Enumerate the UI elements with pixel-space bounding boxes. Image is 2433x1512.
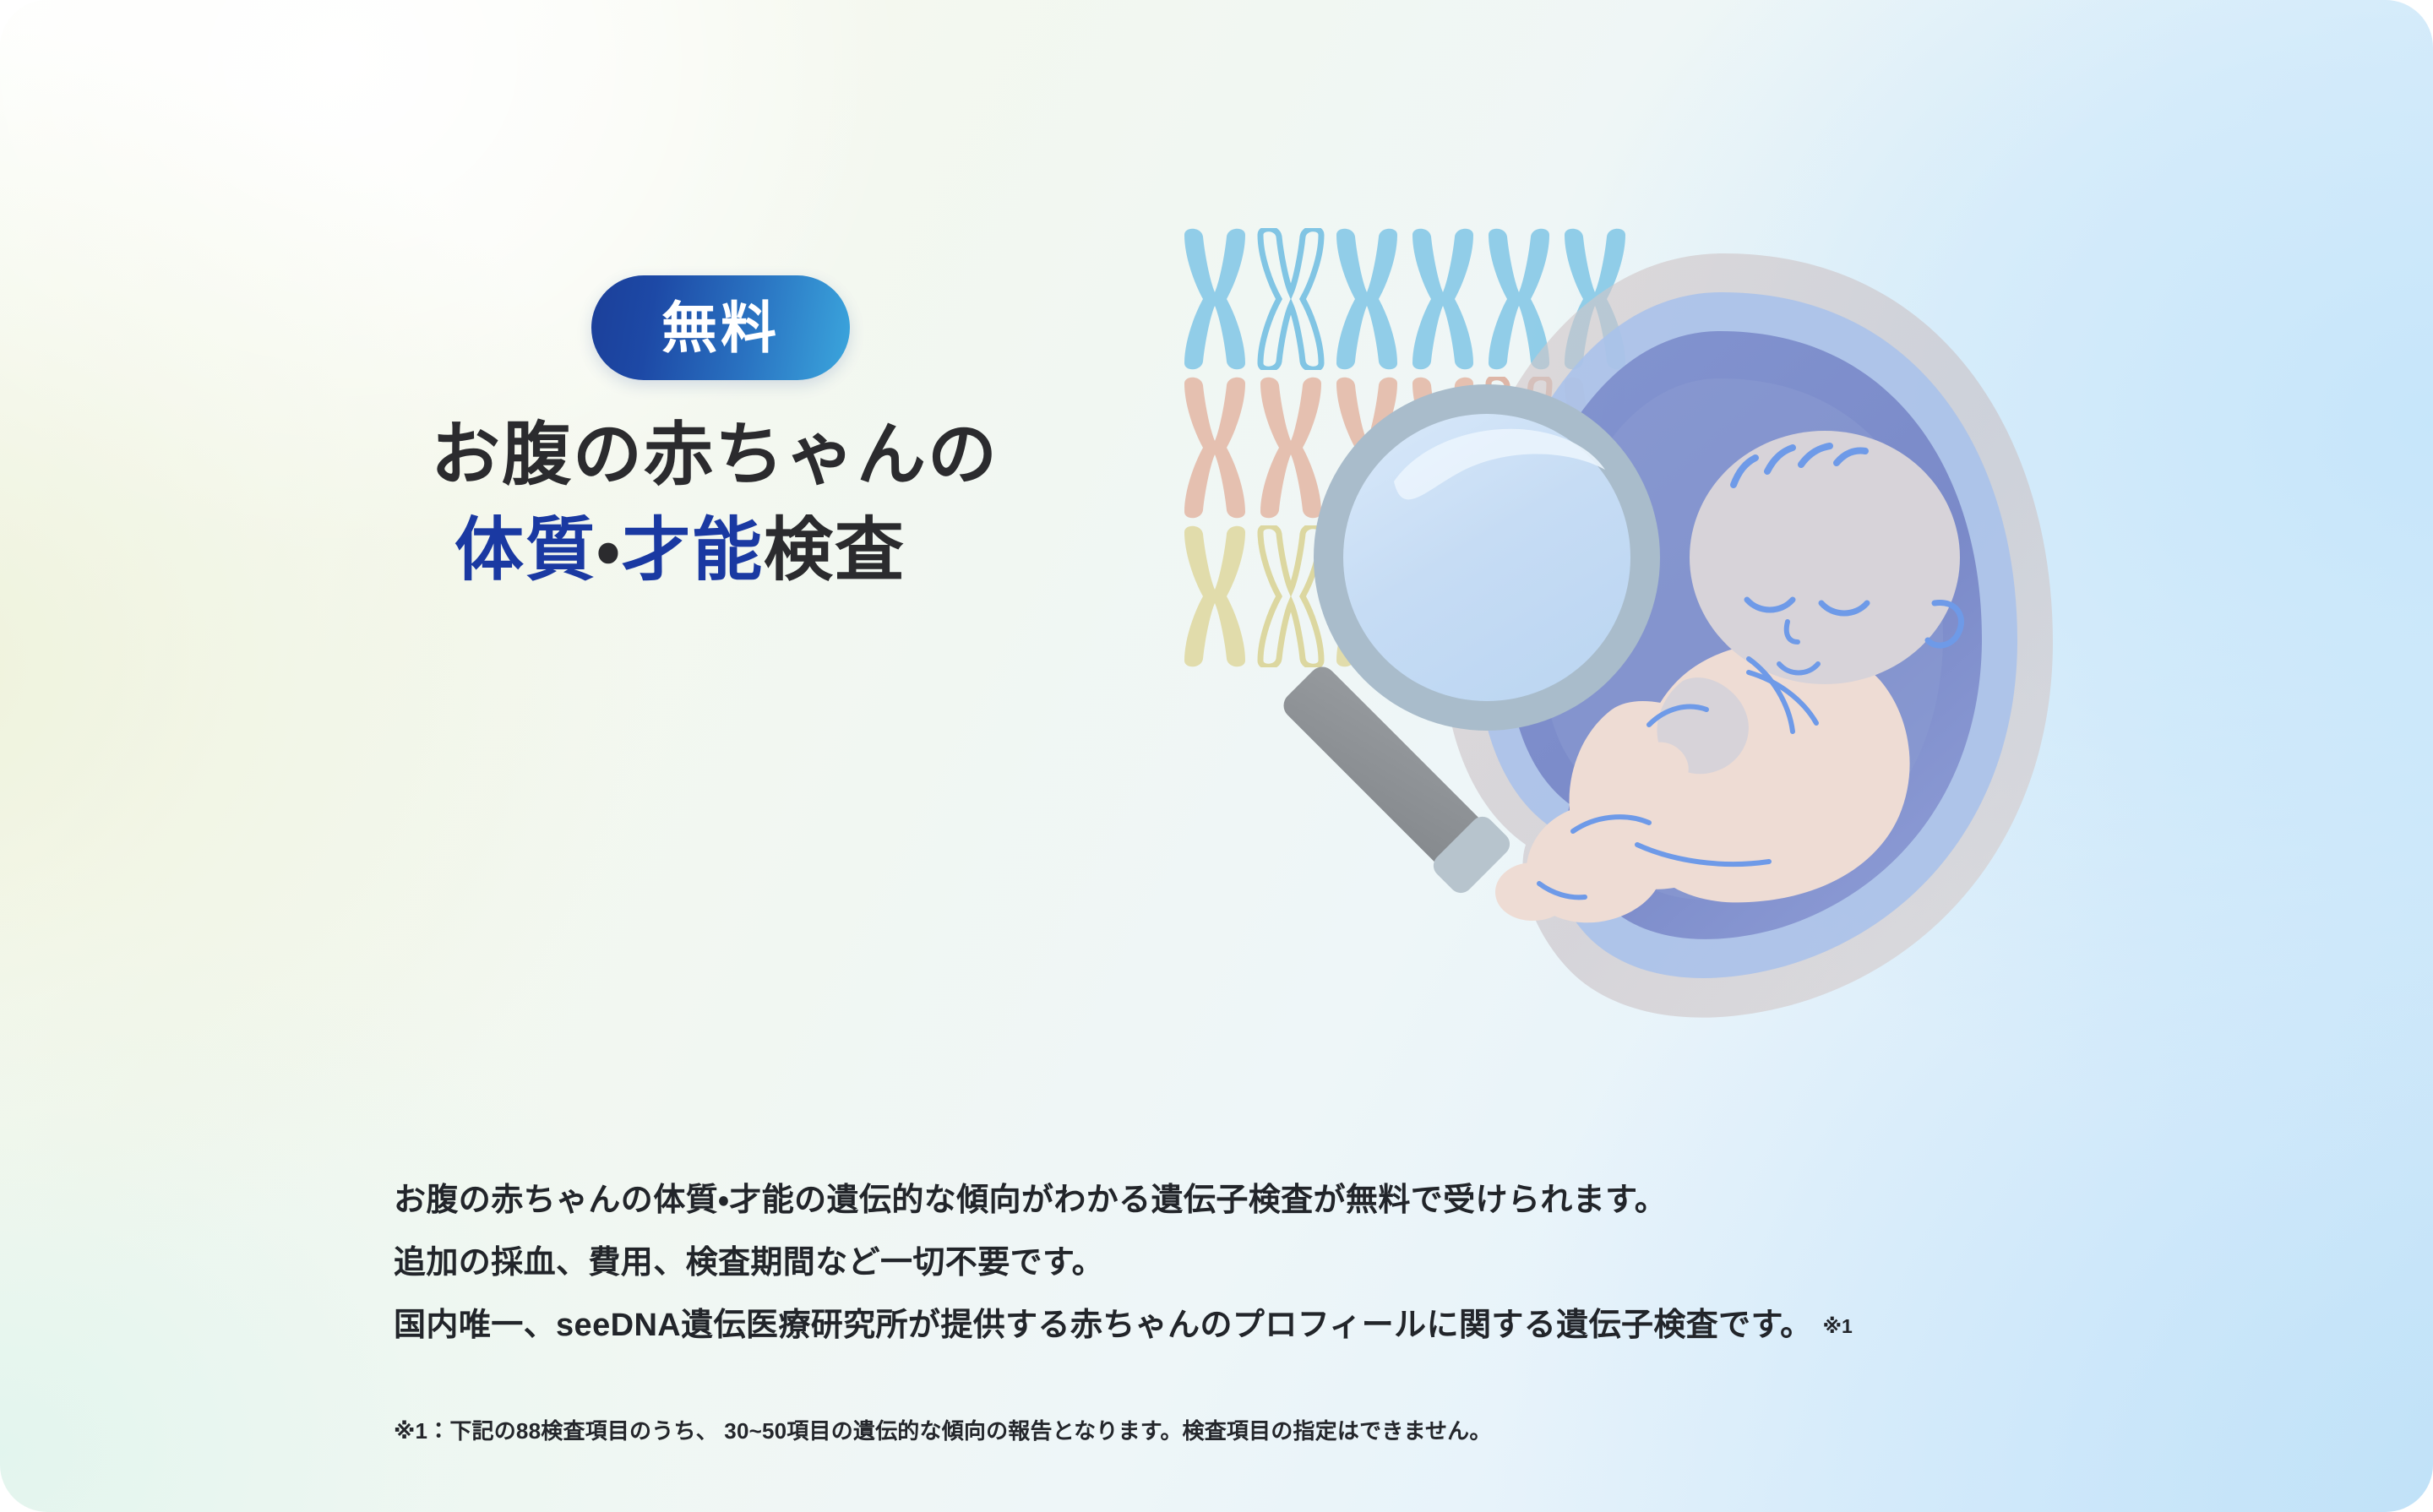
headline-kensa: 検査 — [764, 512, 906, 589]
free-badge-label: 無料 — [661, 300, 780, 356]
footnote-marker: ※1 — [1823, 1315, 1853, 1337]
body-line-1: お腹の赤ちゃんの体質・才能の遺伝的な傾向がわかる遺伝子検査が無料で受けられます。 — [394, 1184, 2083, 1216]
headline-accent-sainou: 才能 — [622, 512, 764, 589]
body-line-3: 国内唯一、seeDNA遺伝医療研究所が提供する赤ちゃんのプロフィールに関する遺伝… — [394, 1309, 2083, 1341]
baby-head — [1690, 431, 1960, 684]
footnote-text: ※1：下記の88検査項目のうち、 30~50項目の遺伝的な傾向の報告となります。… — [394, 1414, 1492, 1445]
free-badge: 無料 — [591, 275, 850, 380]
headline-line-2: 体質・才能検査 — [431, 503, 1090, 598]
banner-card: 無料 お腹の赤ちゃんの 体質・才能検査 お腹の赤ちゃんの体質・才能の遺伝的な傾向… — [0, 0, 2433, 1512]
page-title: お腹の赤ちゃんの 体質・才能検査 — [431, 407, 1090, 598]
headline-separator-dot: ・ — [596, 512, 622, 589]
headline-accent-taishitsu: 体質 — [454, 512, 596, 589]
hero-illustration — [955, 228, 2137, 1149]
hero-banner-root: 無料 お腹の赤ちゃんの 体質・才能検査 お腹の赤ちゃんの体質・才能の遺伝的な傾向… — [0, 0, 2433, 1512]
body-line-2: 追加の採血、費用、検査期間など一切不要です。 — [394, 1247, 2083, 1279]
headline-line-1: お腹の赤ちゃんの — [431, 407, 1090, 503]
body-line-3-text: 国内唯一、seeDNA遺伝医療研究所が提供する赤ちゃんのプロフィールに関する遺伝… — [394, 1308, 1813, 1343]
body-copy: お腹の赤ちゃんの体質・才能の遺伝的な傾向がわかる遺伝子検査が無料で受けられます。… — [394, 1184, 2083, 1341]
